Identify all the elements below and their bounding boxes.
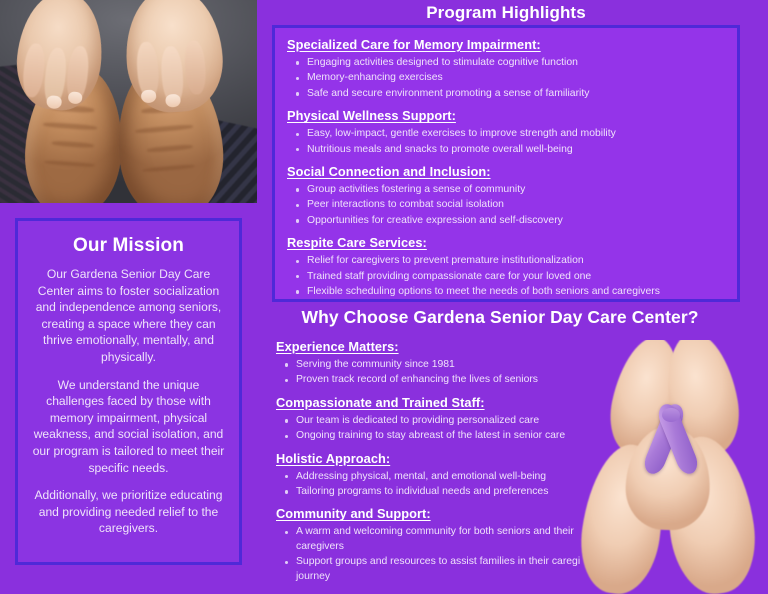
list-item: Peer interactions to combat social isola… — [307, 198, 727, 212]
list-item: Ongoing training to stay abreast of the … — [296, 429, 606, 443]
our-mission-heading: Our Mission — [32, 235, 225, 257]
list-item: Proven track record of enhancing the liv… — [296, 373, 606, 387]
section-heading-memory-care: Specialized Care for Memory Impairment: — [287, 37, 727, 52]
section-heading-holistic-approach: Holistic Approach: — [276, 451, 606, 466]
list-item: Relief for caregivers to prevent prematu… — [307, 254, 727, 268]
list-item: Tailoring programs to individual needs a… — [296, 485, 606, 499]
why-choose-body: Experience Matters: Serving the communit… — [276, 332, 606, 587]
section-heading-physical-wellness: Physical Wellness Support: — [287, 108, 727, 123]
list-item: Nutritious meals and snacks to promote o… — [307, 143, 727, 157]
list-item: Trained staff providing compassionate ca… — [307, 270, 727, 284]
bullet-list-physical-wellness: Easy, low-impact, gentle exercises to im… — [287, 127, 727, 157]
bullet-list-respite-care: Relief for caregivers to prevent prematu… — [287, 254, 727, 299]
mission-paragraph-3: Additionally, we prioritize educating an… — [32, 487, 225, 537]
list-item: Our team is dedicated to providing perso… — [296, 414, 606, 428]
list-item: A warm and welcoming community for both … — [296, 525, 606, 554]
list-item: Opportunities for creative expression an… — [307, 214, 727, 228]
our-mission-card: Our Mission Our Gardena Senior Day Care … — [15, 218, 242, 565]
list-item: Memory-enhancing exercises — [307, 71, 727, 85]
mission-paragraph-1: Our Gardena Senior Day Care Center aims … — [32, 266, 225, 366]
purple-ribbon-hands-photo — [580, 340, 768, 594]
section-heading-compassionate-staff: Compassionate and Trained Staff: — [276, 395, 606, 410]
list-item: Addressing physical, mental, and emotion… — [296, 470, 606, 484]
purple-ribbon-icon — [642, 398, 698, 484]
section-heading-community-support: Community and Support: — [276, 506, 606, 521]
list-item: Easy, low-impact, gentle exercises to im… — [307, 127, 727, 141]
section-heading-social-connection: Social Connection and Inclusion: — [287, 164, 727, 179]
brochure-page: Our Mission Our Gardena Senior Day Care … — [0, 0, 768, 594]
bullet-list-memory-care: Engaging activities designed to stimulat… — [287, 56, 727, 101]
list-item: Safe and secure environment promoting a … — [307, 87, 727, 101]
mission-paragraph-2: We understand the unique challenges face… — [32, 377, 225, 477]
list-item: Serving the community since 1981 — [296, 358, 606, 372]
bullet-list-community-support: A warm and welcoming community for both … — [276, 525, 606, 584]
why-choose-title: Why Choose Gardena Senior Day Care Cente… — [270, 307, 730, 328]
section-heading-respite-care: Respite Care Services: — [287, 235, 727, 250]
section-heading-experience-matters: Experience Matters: — [276, 339, 606, 354]
bullet-list-experience-matters: Serving the community since 1981 Proven … — [276, 358, 606, 388]
program-highlights-box: Specialized Care for Memory Impairment: … — [272, 25, 740, 302]
bullet-list-holistic-approach: Addressing physical, mental, and emotion… — [276, 470, 606, 500]
program-highlights-title: Program Highlights — [270, 3, 742, 23]
caring-hands-photo — [0, 0, 257, 203]
bullet-list-social-connection: Group activities fostering a sense of co… — [287, 183, 727, 228]
list-item: Flexible scheduling options to meet the … — [307, 285, 727, 299]
list-item: Support groups and resources to assist f… — [296, 555, 606, 584]
list-item: Engaging activities designed to stimulat… — [307, 56, 727, 70]
bullet-list-compassionate-staff: Our team is dedicated to providing perso… — [276, 414, 606, 444]
list-item: Group activities fostering a sense of co… — [307, 183, 727, 197]
